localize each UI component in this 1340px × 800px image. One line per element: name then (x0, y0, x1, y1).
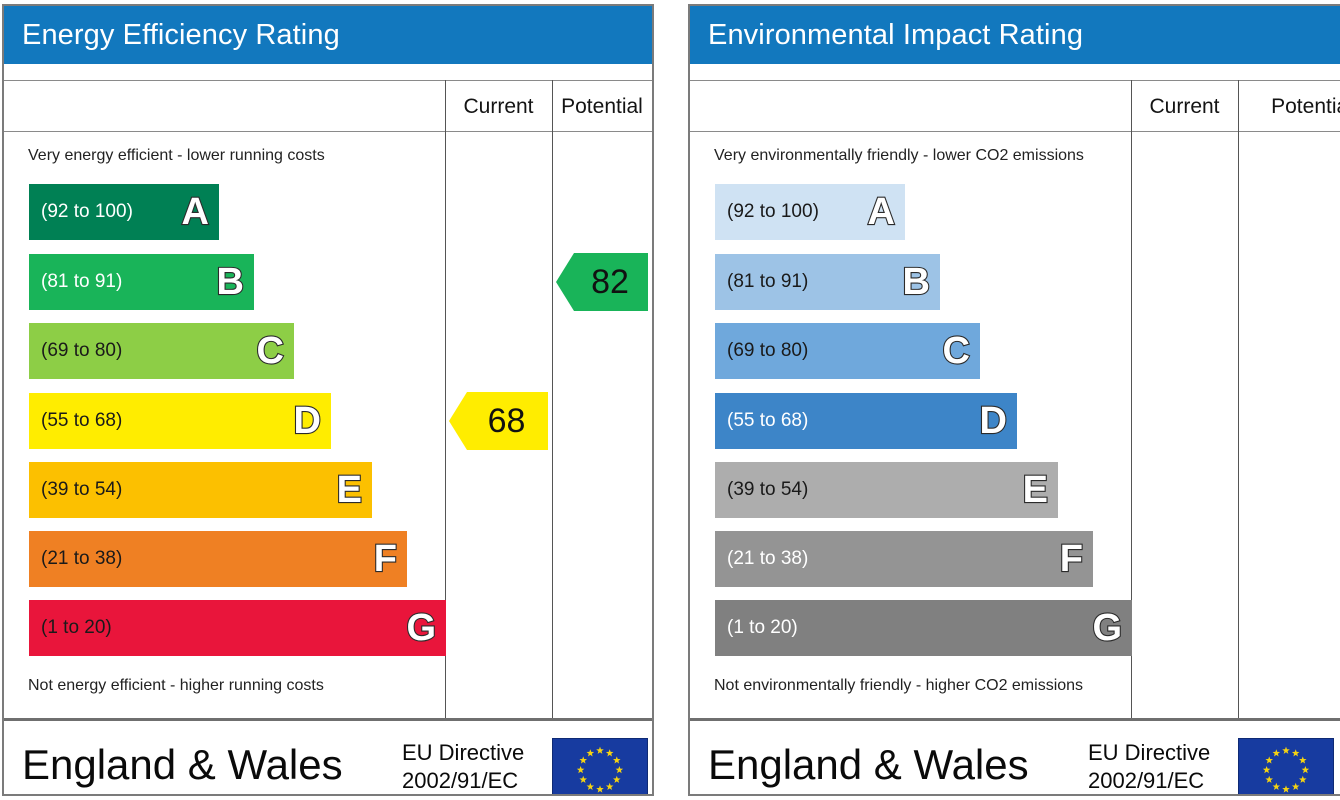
band-e: (39 to 54)E (715, 462, 1058, 518)
panel-environment: Environmental Impact RatingCurrentPotent… (688, 4, 1340, 796)
band-range-e: (39 to 54) (727, 479, 808, 501)
eu-flag-icon (552, 738, 648, 796)
band-letter-c: C (257, 332, 284, 370)
band-range-g: (1 to 20) (727, 617, 798, 639)
band-e: (39 to 54)E (29, 462, 372, 518)
band-g: (1 to 20)G (29, 600, 446, 656)
column-header-potential: Potential (552, 81, 652, 131)
eu-flag-icon (1238, 738, 1334, 796)
column-header-current: Current (1131, 81, 1238, 131)
band-a: (92 to 100)A (715, 184, 905, 240)
band-letter-e: E (337, 471, 362, 509)
eu-directive-text: EU Directive2002/91/EC (1088, 739, 1210, 795)
panel-title-environment: Environmental Impact Rating (690, 6, 1340, 64)
eu-directive-line1: EU Directive (402, 739, 524, 767)
band-d: (55 to 68)D (29, 393, 331, 449)
eu-directive-text: EU Directive2002/91/EC (402, 739, 524, 795)
band-g: (1 to 20)G (715, 600, 1132, 656)
eu-directive-line1: EU Directive (1088, 739, 1210, 767)
band-letter-a: A (868, 193, 895, 231)
caption-top: Very energy efficient - lower running co… (28, 147, 325, 165)
column-header-current: Current (445, 81, 552, 131)
band-range-g: (1 to 20) (41, 617, 112, 639)
caption-top: Very environmentally friendly - lower CO… (714, 147, 1084, 165)
band-f: (21 to 38)F (29, 531, 407, 587)
band-c: (69 to 80)C (715, 323, 980, 379)
band-range-a: (92 to 100) (727, 201, 819, 223)
band-range-a: (92 to 100) (41, 201, 133, 223)
current-rating-value: 68 (488, 404, 526, 438)
panel-energy: Energy Efficiency RatingCurrentPotential… (2, 4, 654, 796)
band-b: (81 to 91)B (29, 254, 254, 310)
current-rating-arrow: 68 (449, 392, 548, 450)
band-range-b: (81 to 91) (727, 271, 808, 293)
band-letter-b: B (217, 263, 244, 301)
band-b: (81 to 91)B (715, 254, 940, 310)
column-divider-potential (552, 80, 553, 718)
column-header-row: CurrentPotential (4, 80, 652, 132)
band-c: (69 to 80)C (29, 323, 294, 379)
band-a: (92 to 100)A (29, 184, 219, 240)
band-letter-d: D (980, 402, 1007, 440)
band-letter-f: F (1060, 540, 1083, 578)
band-f: (21 to 38)F (715, 531, 1093, 587)
eu-directive-line2: 2002/91/EC (1088, 767, 1210, 795)
footer: England & WalesEU Directive2002/91/EC (4, 721, 652, 794)
band-letter-g: G (1092, 609, 1122, 647)
band-letter-d: D (294, 402, 321, 440)
column-divider-potential (1238, 80, 1239, 718)
band-range-f: (21 to 38) (41, 548, 122, 570)
panel-title-energy: Energy Efficiency Rating (4, 6, 652, 64)
band-range-c: (69 to 80) (41, 340, 122, 362)
band-letter-c: C (943, 332, 970, 370)
column-header-row: CurrentPotential (690, 80, 1340, 132)
band-d: (55 to 68)D (715, 393, 1017, 449)
band-range-d: (55 to 68) (41, 410, 122, 432)
caption-bottom: Not environmentally friendly - higher CO… (714, 677, 1083, 695)
band-letter-a: A (182, 193, 209, 231)
potential-rating-value: 82 (591, 265, 629, 299)
band-letter-f: F (374, 540, 397, 578)
band-letter-e: E (1023, 471, 1048, 509)
band-range-b: (81 to 91) (41, 271, 122, 293)
band-letter-g: G (406, 609, 436, 647)
band-range-d: (55 to 68) (727, 410, 808, 432)
column-header-potential: Potential (1238, 81, 1340, 131)
eu-directive-line2: 2002/91/EC (402, 767, 524, 795)
band-letter-b: B (903, 263, 930, 301)
potential-rating-arrow: 82 (556, 253, 648, 311)
caption-bottom: Not energy efficient - higher running co… (28, 677, 324, 695)
footer: England & WalesEU Directive2002/91/EC (690, 721, 1340, 794)
epc-chart-root: Energy Efficiency RatingCurrentPotential… (0, 0, 1340, 800)
band-range-e: (39 to 54) (41, 479, 122, 501)
band-range-c: (69 to 80) (727, 340, 808, 362)
band-range-f: (21 to 38) (727, 548, 808, 570)
region-name: England & Wales (708, 741, 1029, 789)
region-name: England & Wales (22, 741, 343, 789)
